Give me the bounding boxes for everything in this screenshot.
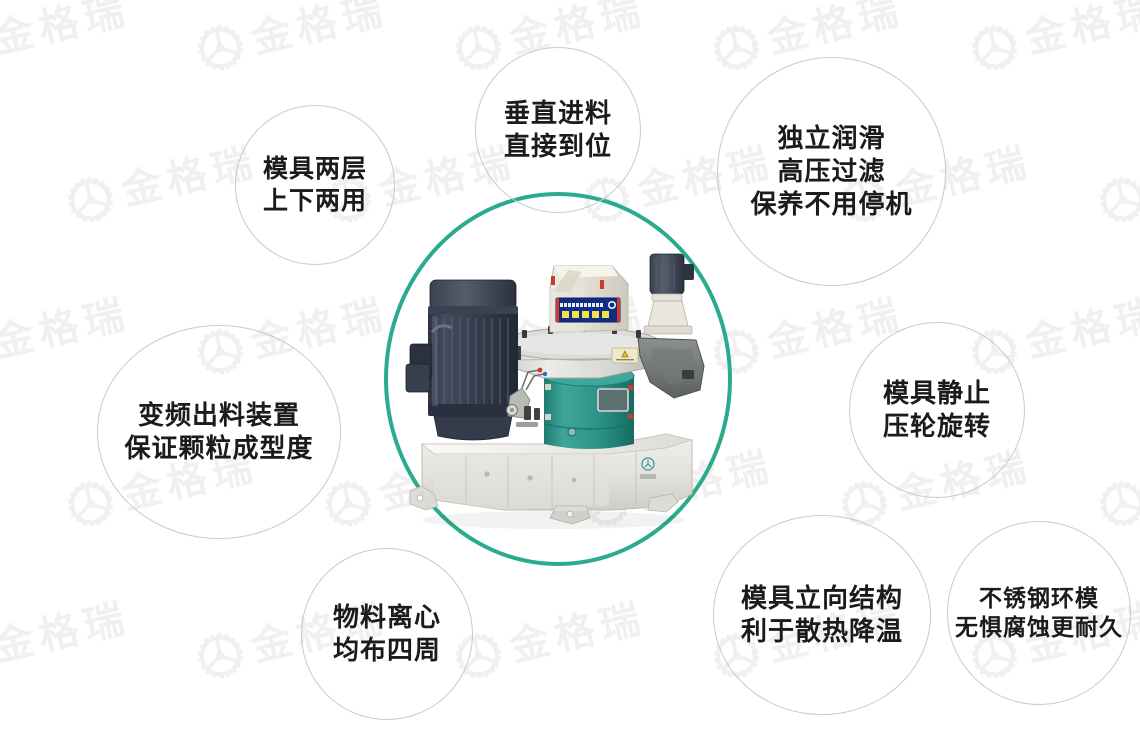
machine-nameplate [556,298,620,322]
watermark-tile: 金格瑞 [0,0,134,75]
feature-line: 压轮旋转 [883,410,991,443]
feature-line: 模具立向结构 [741,582,903,615]
feature-line: 变频出料装置 [138,399,300,432]
feature-line: 物料离心 [333,601,441,634]
watermark-tile: 金格瑞 [451,595,650,683]
machine-main-motor [406,280,518,440]
watermark-text: 金格瑞 [0,0,134,60]
feature-line: 垂直进料 [504,97,612,130]
feature-line: 保证颗粒成型度 [124,432,313,465]
watermark-tile: 金格瑞 [0,595,134,683]
watermark-tile: 金格瑞 [0,443,4,531]
feature-bubble-dual-layer-die[interactable]: 模具两层 上下两用 [235,105,395,265]
watermark-tile: 金格瑞 [1095,139,1140,227]
feature-line: 模具两层 [263,153,367,185]
feature-line: 均布四周 [333,634,441,667]
feature-diagram-canvas: 金格瑞金格瑞金格瑞金格瑞金格瑞金格瑞金格瑞金格瑞金格瑞金格瑞金格瑞金格瑞金格瑞金… [0,0,1140,743]
machine-base [410,434,692,524]
watermark-tile: 金格瑞 [967,0,1140,75]
watermark-text: 金格瑞 [0,142,4,212]
feature-line: 保养不用停机 [750,188,912,221]
watermark-tile: 金格瑞 [0,139,4,227]
watermark-text: 金格瑞 [506,598,649,668]
feature-bubble-lubrication[interactable]: 独立润滑 高压过滤 保养不用停机 [717,57,946,286]
machine-discharge-gearmotor [638,254,704,398]
watermark-text: 金格瑞 [0,446,4,516]
feature-line: 直接到位 [504,130,612,163]
feature-bubble-static-die[interactable]: 模具静止 压轮旋转 [849,322,1025,498]
feature-bubble-vertical-feed[interactable]: 垂直进料 直接到位 [475,47,641,213]
watermark-tile: 金格瑞 [1095,443,1140,531]
watermark-text: 金格瑞 [0,294,134,364]
feature-bubble-centrifugal[interactable]: 物料离心 均布四周 [301,548,473,720]
machine-die-housing [498,324,662,378]
watermark-text: 金格瑞 [764,0,907,60]
machine-feed-hopper [550,266,628,332]
feature-bubble-vertical-die-structure[interactable]: 模具立向结构 利于散热降温 [713,515,931,715]
pellet-mill-machine [404,248,714,538]
feature-line: 无惧腐蚀更耐久 [955,613,1123,642]
feature-line: 上下两用 [263,185,367,217]
watermark-text: 金格瑞 [1022,294,1140,364]
feature-line: 利于散热降温 [741,615,903,648]
feature-line: 模具静止 [883,377,991,410]
watermark-text: 金格瑞 [0,598,134,668]
feature-bubble-stainless-ring-die[interactable]: 不锈钢环模 无惧腐蚀更耐久 [947,521,1131,705]
feature-bubble-vfd-discharge[interactable]: 变频出料装置 保证颗粒成型度 [97,325,341,539]
feature-line: 不锈钢环模 [979,584,1099,613]
watermark-text: 金格瑞 [1022,0,1140,60]
watermark-tile: 金格瑞 [193,0,392,75]
feature-line: 高压过滤 [777,155,885,188]
watermark-tile: 金格瑞 [0,291,134,379]
watermark-tile: 金格瑞 [63,139,262,227]
watermark-text: 金格瑞 [248,0,391,60]
feature-line: 独立润滑 [777,122,885,155]
